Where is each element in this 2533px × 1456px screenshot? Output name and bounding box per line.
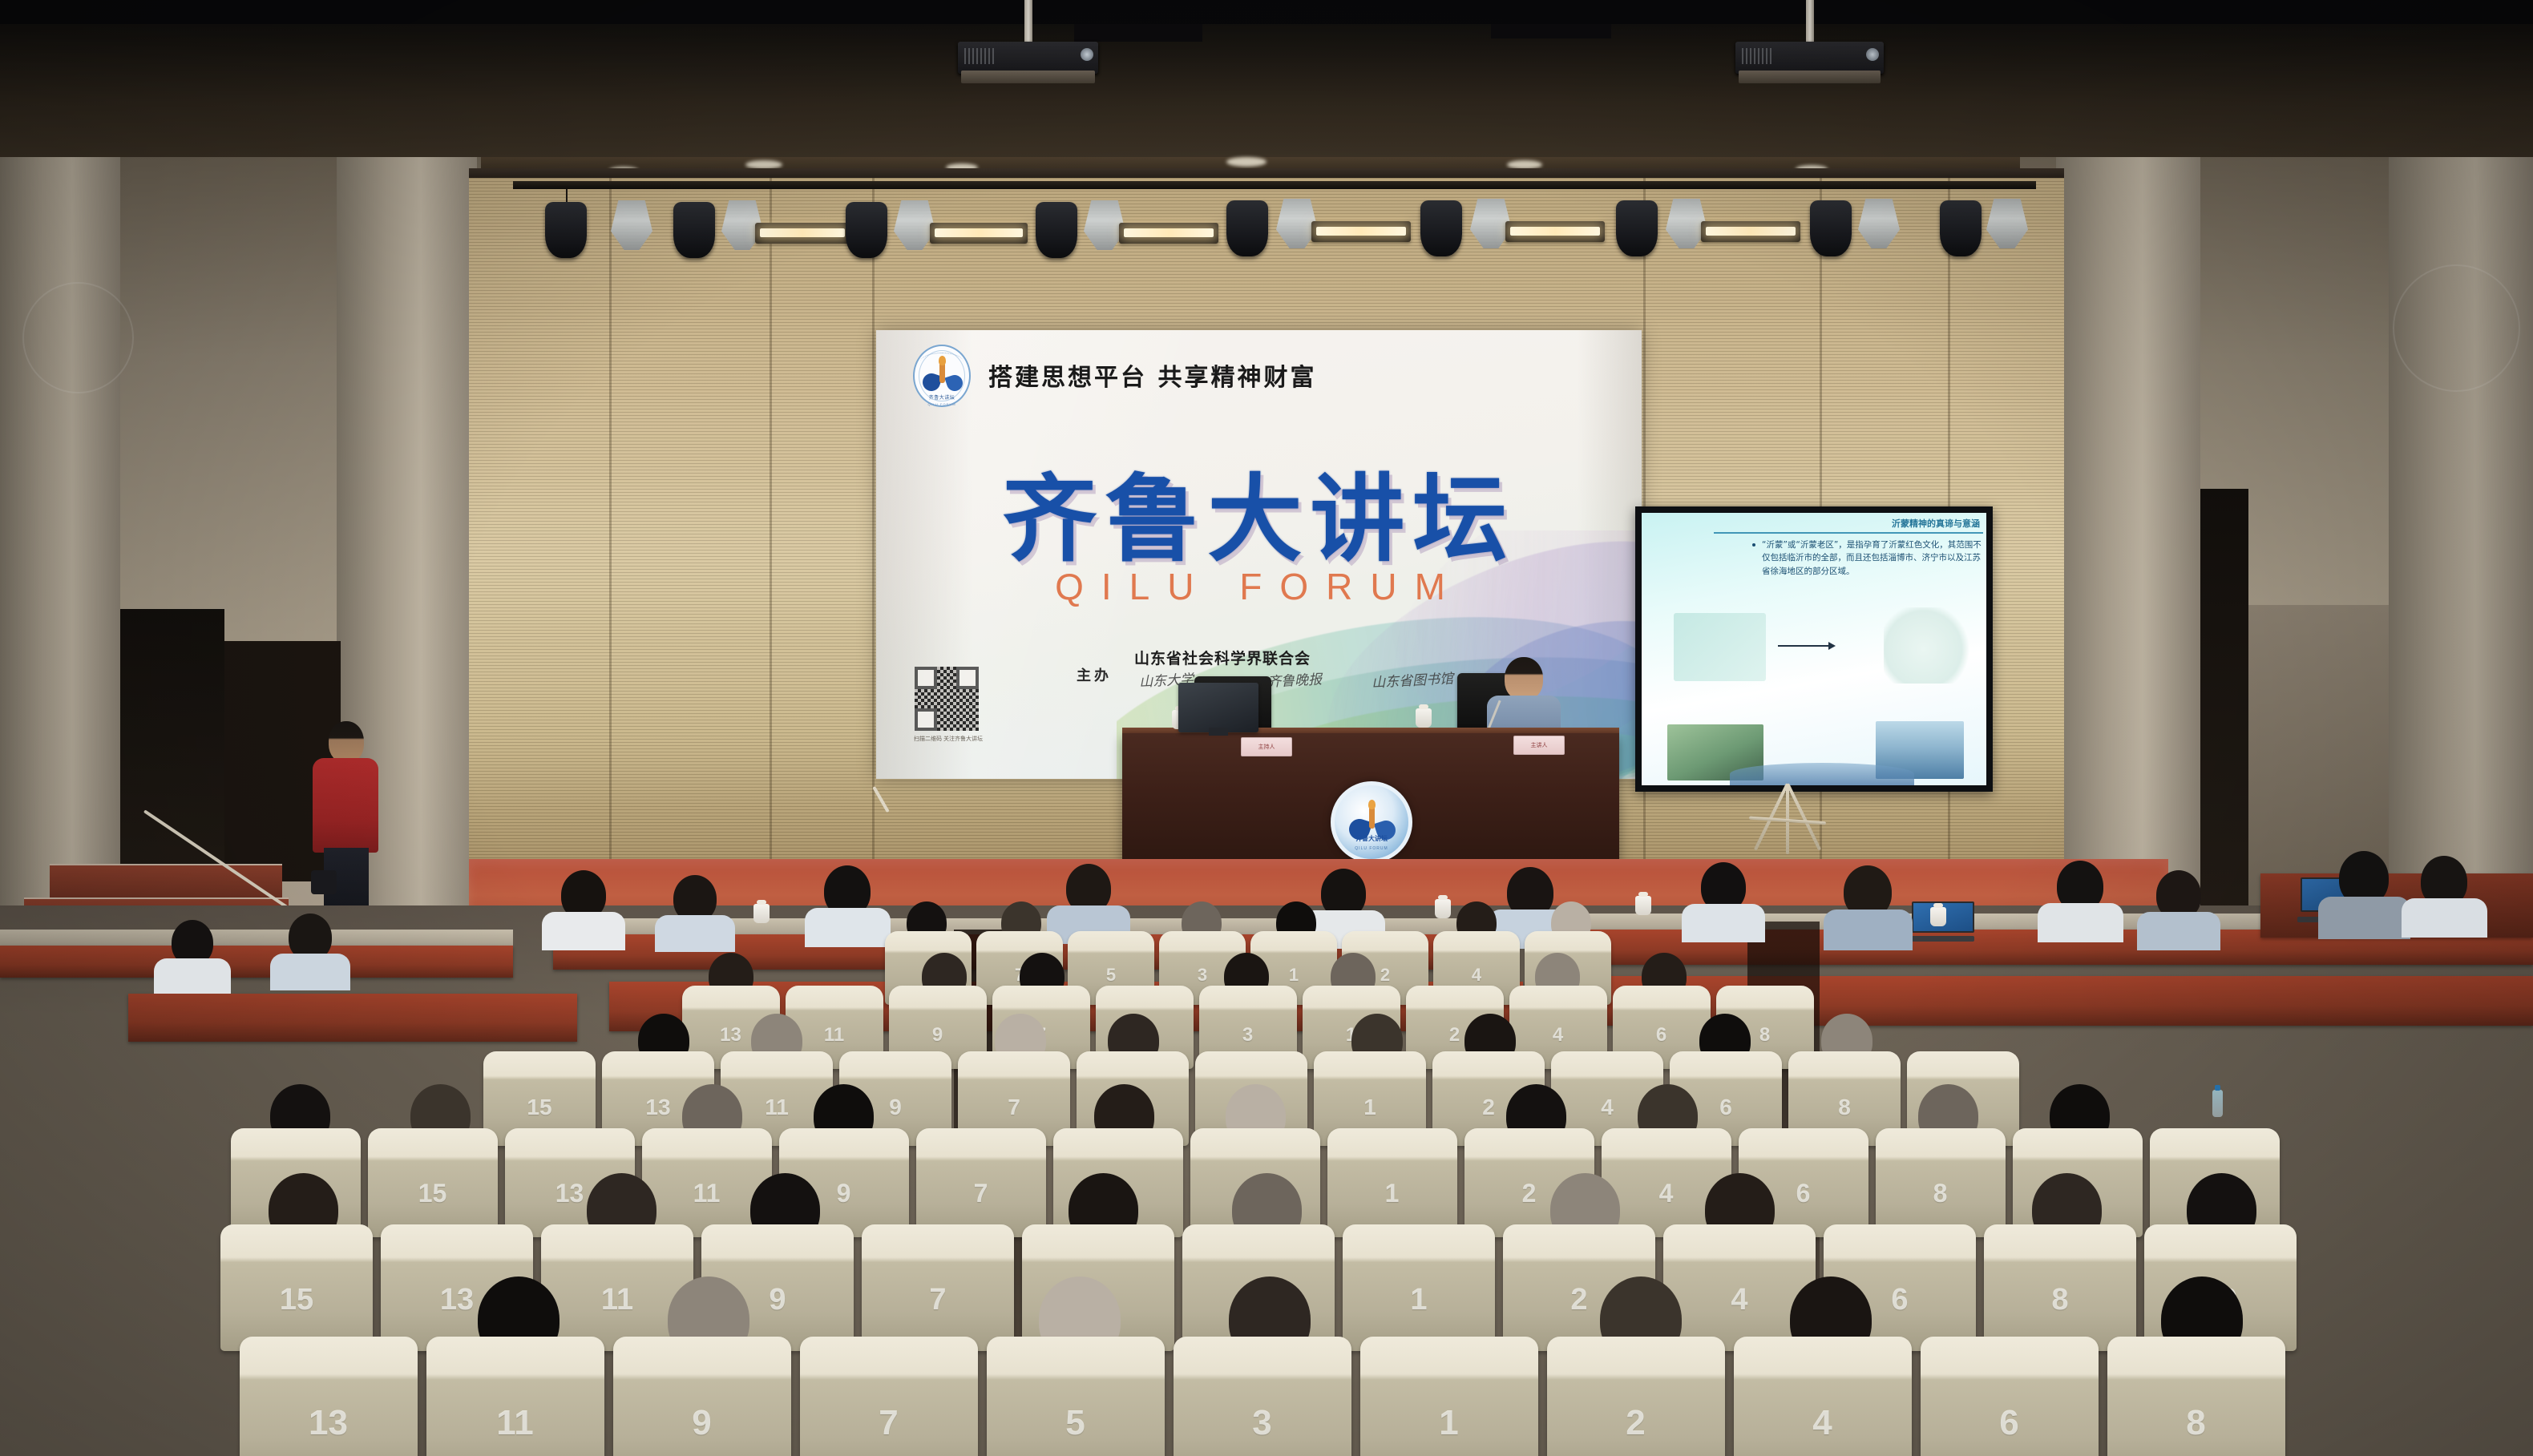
person-shoulders <box>2038 903 2123 942</box>
projector-lens <box>1081 48 1093 61</box>
seat-number: 7 <box>862 1283 1014 1317</box>
podium-logo-medallion: 齐鲁大讲坛 QILU FORUM <box>1331 781 1412 863</box>
slide-title: 沂蒙精神的真谛与意涵 <box>1892 517 1980 530</box>
seat-number: 15 <box>220 1283 373 1317</box>
medal-label-en: QILU FORUM <box>1335 846 1408 851</box>
slide-body-text: “沂蒙”或“沂蒙老区”，是指孕育了沂蒙红色文化，其范围不仅包括临沂市的全部，而且… <box>1762 538 1982 578</box>
banner-title-en: QILU FORUM <box>876 565 1642 608</box>
person-shoulders <box>655 915 735 952</box>
stage-light-bar <box>1505 221 1605 242</box>
ceiling-edge <box>0 0 2533 24</box>
lamp-glow <box>935 228 1023 237</box>
ceiling-projector-left <box>958 0 1098 88</box>
pillar-right-inner <box>2056 157 2200 958</box>
lamp-glow <box>1706 227 1796 236</box>
ceiling <box>0 0 2533 172</box>
teacup-audience <box>1635 896 1651 915</box>
stage-light-bar <box>755 223 850 244</box>
lamp-glow <box>1510 227 1600 236</box>
audience-seat[interactable]: 15 <box>368 1128 498 1237</box>
stage-light-par <box>1036 202 1077 258</box>
projector-base <box>961 71 1095 83</box>
seat-number: 4 <box>1509 1024 1607 1047</box>
host-label: 主办 <box>1077 664 1112 685</box>
projector-lens <box>1866 48 1879 61</box>
stage-light-par <box>846 202 887 258</box>
person-shoulders <box>1824 909 1913 950</box>
seat-number: 15 <box>483 1095 596 1120</box>
stage-light-par <box>1226 200 1268 256</box>
audience-seat[interactable]: 6 <box>1921 1337 2099 1456</box>
nameplate-speaker-text: 主讲人 <box>1514 736 1564 754</box>
seat-number: 4 <box>1433 965 1520 986</box>
ceiling-light <box>1226 157 1266 167</box>
qilu-forum-logo-icon: 齐鲁大讲坛 QILU FORUM <box>913 345 971 407</box>
host-organization: 山东省社会科学界联合会 <box>1134 647 1311 668</box>
projection-screen: 沂蒙精神的真谛与意涵 “沂蒙”或“沂蒙老区”，是指孕育了沂蒙红色文化，其范围不仅… <box>1635 506 1993 792</box>
audience-seat[interactable]: 8 <box>2107 1337 2285 1456</box>
logo-label-en: QILU FORUM <box>913 402 971 406</box>
seat-number: 6 <box>1613 1024 1711 1047</box>
audience-member-back-row <box>2156 870 2201 920</box>
projector-mount-pole <box>1806 0 1814 46</box>
lamp-glow <box>1124 228 1214 237</box>
slide-rule <box>1714 532 1983 534</box>
qr-code-icon <box>915 667 979 731</box>
audience-member-back-row <box>289 914 332 961</box>
audience-member-back-row <box>2057 861 2103 912</box>
lamp-glow <box>1316 227 1406 236</box>
stage-light-par <box>1940 200 1982 256</box>
banner-title-cn: 齐鲁大讲坛 <box>876 442 1642 579</box>
stage-light-par <box>1810 200 1852 256</box>
seat-number: 8 <box>2107 1403 2285 1443</box>
teacup-audience <box>1930 907 1946 926</box>
pillar-left <box>0 157 120 958</box>
medal-flame <box>1368 800 1376 809</box>
slat-seam <box>872 178 875 867</box>
slide-bullet-icon <box>1752 543 1755 547</box>
audience-seat[interactable]: 7 <box>800 1337 978 1456</box>
audience-seat[interactable]: 8 <box>1876 1128 2006 1237</box>
photographer-head <box>329 721 364 763</box>
slide-map-image <box>1674 613 1766 681</box>
seat-number: 15 <box>368 1179 498 1208</box>
audience-seat[interactable]: 5 <box>987 1337 1165 1456</box>
podium-monitor-stand <box>1209 728 1228 736</box>
audience-seat[interactable]: 9 <box>613 1337 791 1456</box>
audience-seat[interactable]: 1 <box>1343 1224 1495 1351</box>
seat-number: 3 <box>1174 1403 1351 1443</box>
seat-number: 8 <box>1876 1179 2006 1208</box>
stage-light-par <box>1420 200 1462 256</box>
audience-member-back-row <box>172 920 213 966</box>
seat-number: 1 <box>1314 1095 1426 1120</box>
audience-member-back-row <box>1066 864 1111 914</box>
person-shoulders <box>542 912 625 950</box>
seat-number: 1 <box>1327 1179 1457 1208</box>
presentation-slide: 沂蒙精神的真谛与意涵 “沂蒙”或“沂蒙老区”，是指孕育了沂蒙红色文化，其范围不仅… <box>1642 513 1986 785</box>
seat-number: 7 <box>958 1095 1070 1120</box>
ceiling-projector-right <box>1735 0 1884 88</box>
slide-province-map <box>1884 607 1972 684</box>
person-shoulders <box>2402 898 2487 938</box>
wall-speaker-grille-right <box>2393 264 2520 392</box>
audience-seat[interactable]: 4 <box>1734 1337 1912 1456</box>
slide-photo-horizon <box>1730 763 1914 785</box>
slat-seam <box>609 178 612 867</box>
audience-seat[interactable]: 1 <box>1360 1337 1538 1456</box>
audience-seat[interactable]: 7 <box>862 1224 1014 1351</box>
projector-vent <box>1742 48 1774 64</box>
seat-number: 3 <box>1199 1024 1297 1047</box>
laptop-base <box>1909 936 1973 942</box>
nameplate-host: 主持人 <box>1241 737 1292 756</box>
seat-number: 9 <box>613 1403 791 1443</box>
slide-arrow-icon <box>1778 645 1834 647</box>
stage-light-par <box>545 202 587 258</box>
seat-number: 1 <box>1343 1283 1495 1317</box>
slat-seam <box>770 178 772 867</box>
projector-mount-pole <box>1024 0 1032 46</box>
seat-number: 8 <box>1788 1095 1901 1120</box>
seat-number: 11 <box>426 1403 604 1443</box>
lecture-hall-photo: 齐鲁大讲坛 QILU FORUM 搭建思想平台 共享精神财富 齐鲁大讲坛 QIL… <box>0 0 2533 1456</box>
qr-caption: 扫描二维码 关注齐鲁大讲坛 <box>900 736 996 744</box>
projector-vent <box>964 48 996 64</box>
audience-seat[interactable]: 2 <box>1547 1337 1725 1456</box>
seat-number: 7 <box>800 1403 978 1443</box>
medal-torch <box>1369 806 1375 829</box>
audience-desk <box>128 994 577 1042</box>
camera-icon <box>311 870 337 894</box>
projector-base <box>1739 71 1881 83</box>
person-shoulders <box>805 908 891 947</box>
stage-light-par <box>1616 200 1658 256</box>
desk-rail <box>0 930 513 947</box>
audience-seat[interactable]: 13 <box>240 1337 418 1456</box>
person-shoulders <box>154 958 231 994</box>
cohost-3: 山东省图书馆 <box>1371 667 1453 691</box>
audience-seat[interactable]: 11 <box>426 1337 604 1456</box>
audience-member-back-row <box>2339 851 2389 905</box>
audience-seat[interactable]: 3 <box>1174 1337 1351 1456</box>
logo-label-cn: 齐鲁大讲坛 <box>913 393 971 401</box>
podium-monitor <box>1178 683 1258 732</box>
qr-finder <box>956 667 979 689</box>
banner-slogan: 搭建思想平台 共享精神财富 <box>988 357 1316 393</box>
audience-seat[interactable]: 7 <box>916 1128 1046 1237</box>
audience-seat[interactable]: 15 <box>220 1224 373 1351</box>
audience-member-back-row <box>1844 865 1892 918</box>
wall-speaker-grille-left <box>22 282 134 393</box>
seat-number: 5 <box>987 1403 1165 1443</box>
seat-number: 7 <box>916 1179 1046 1208</box>
person-shoulders <box>2318 897 2410 939</box>
teacup <box>1416 708 1432 728</box>
seat-number: 5 <box>1068 965 1154 986</box>
stage-light-par <box>673 202 715 258</box>
lighting-truss <box>513 181 2036 189</box>
audience-member-back-row <box>1507 867 1553 918</box>
audience-member-back-row <box>561 870 606 920</box>
photographer-shirt <box>313 758 378 853</box>
photographer-standing <box>313 721 378 922</box>
teacup-audience <box>1435 899 1451 918</box>
medal-label-cn: 齐鲁大讲坛 <box>1335 834 1408 843</box>
seat-number: 4 <box>1734 1403 1912 1443</box>
stage-light-bar <box>930 223 1028 244</box>
audience-desk <box>0 946 513 978</box>
person-shoulders <box>2137 912 2220 950</box>
stage-light-bar <box>1311 221 1411 242</box>
audience-member-back-row <box>673 875 717 922</box>
seat-number: 13 <box>240 1403 418 1443</box>
audience-member-back-row <box>1321 869 1366 918</box>
seat-number: 2 <box>1547 1403 1725 1443</box>
qr-finder <box>915 708 937 731</box>
water-bottle <box>2212 1090 2223 1117</box>
logo-flame <box>939 356 946 365</box>
audience-seat[interactable]: 8 <box>1984 1224 2136 1351</box>
audience-seat[interactable]: 1 <box>1327 1128 1457 1237</box>
cohost-2: 齐鲁晚报 <box>1266 668 1322 691</box>
nameplate-speaker: 主讲人 <box>1513 736 1565 755</box>
seat-number: 9 <box>889 1024 987 1047</box>
lamp-glow <box>760 228 845 237</box>
stage-light-bar <box>1701 221 1800 242</box>
qr-finder <box>915 667 937 689</box>
audience-member-back-row <box>824 865 871 917</box>
stage-light-bar <box>1119 223 1218 244</box>
seat-number: 8 <box>1984 1283 2136 1317</box>
nameplate-host-text: 主持人 <box>1242 738 1291 756</box>
audience-member-back-row <box>1701 862 1746 912</box>
presenter-head <box>1505 657 1543 700</box>
seat-number: 1 <box>1360 1403 1538 1443</box>
doorway-right <box>2200 489 2248 962</box>
person-shoulders <box>1682 904 1765 942</box>
audience-member-back-row <box>2421 856 2467 907</box>
teacup-audience <box>753 904 770 923</box>
seat-number: 6 <box>1921 1403 2099 1443</box>
person-shoulders <box>270 954 350 990</box>
